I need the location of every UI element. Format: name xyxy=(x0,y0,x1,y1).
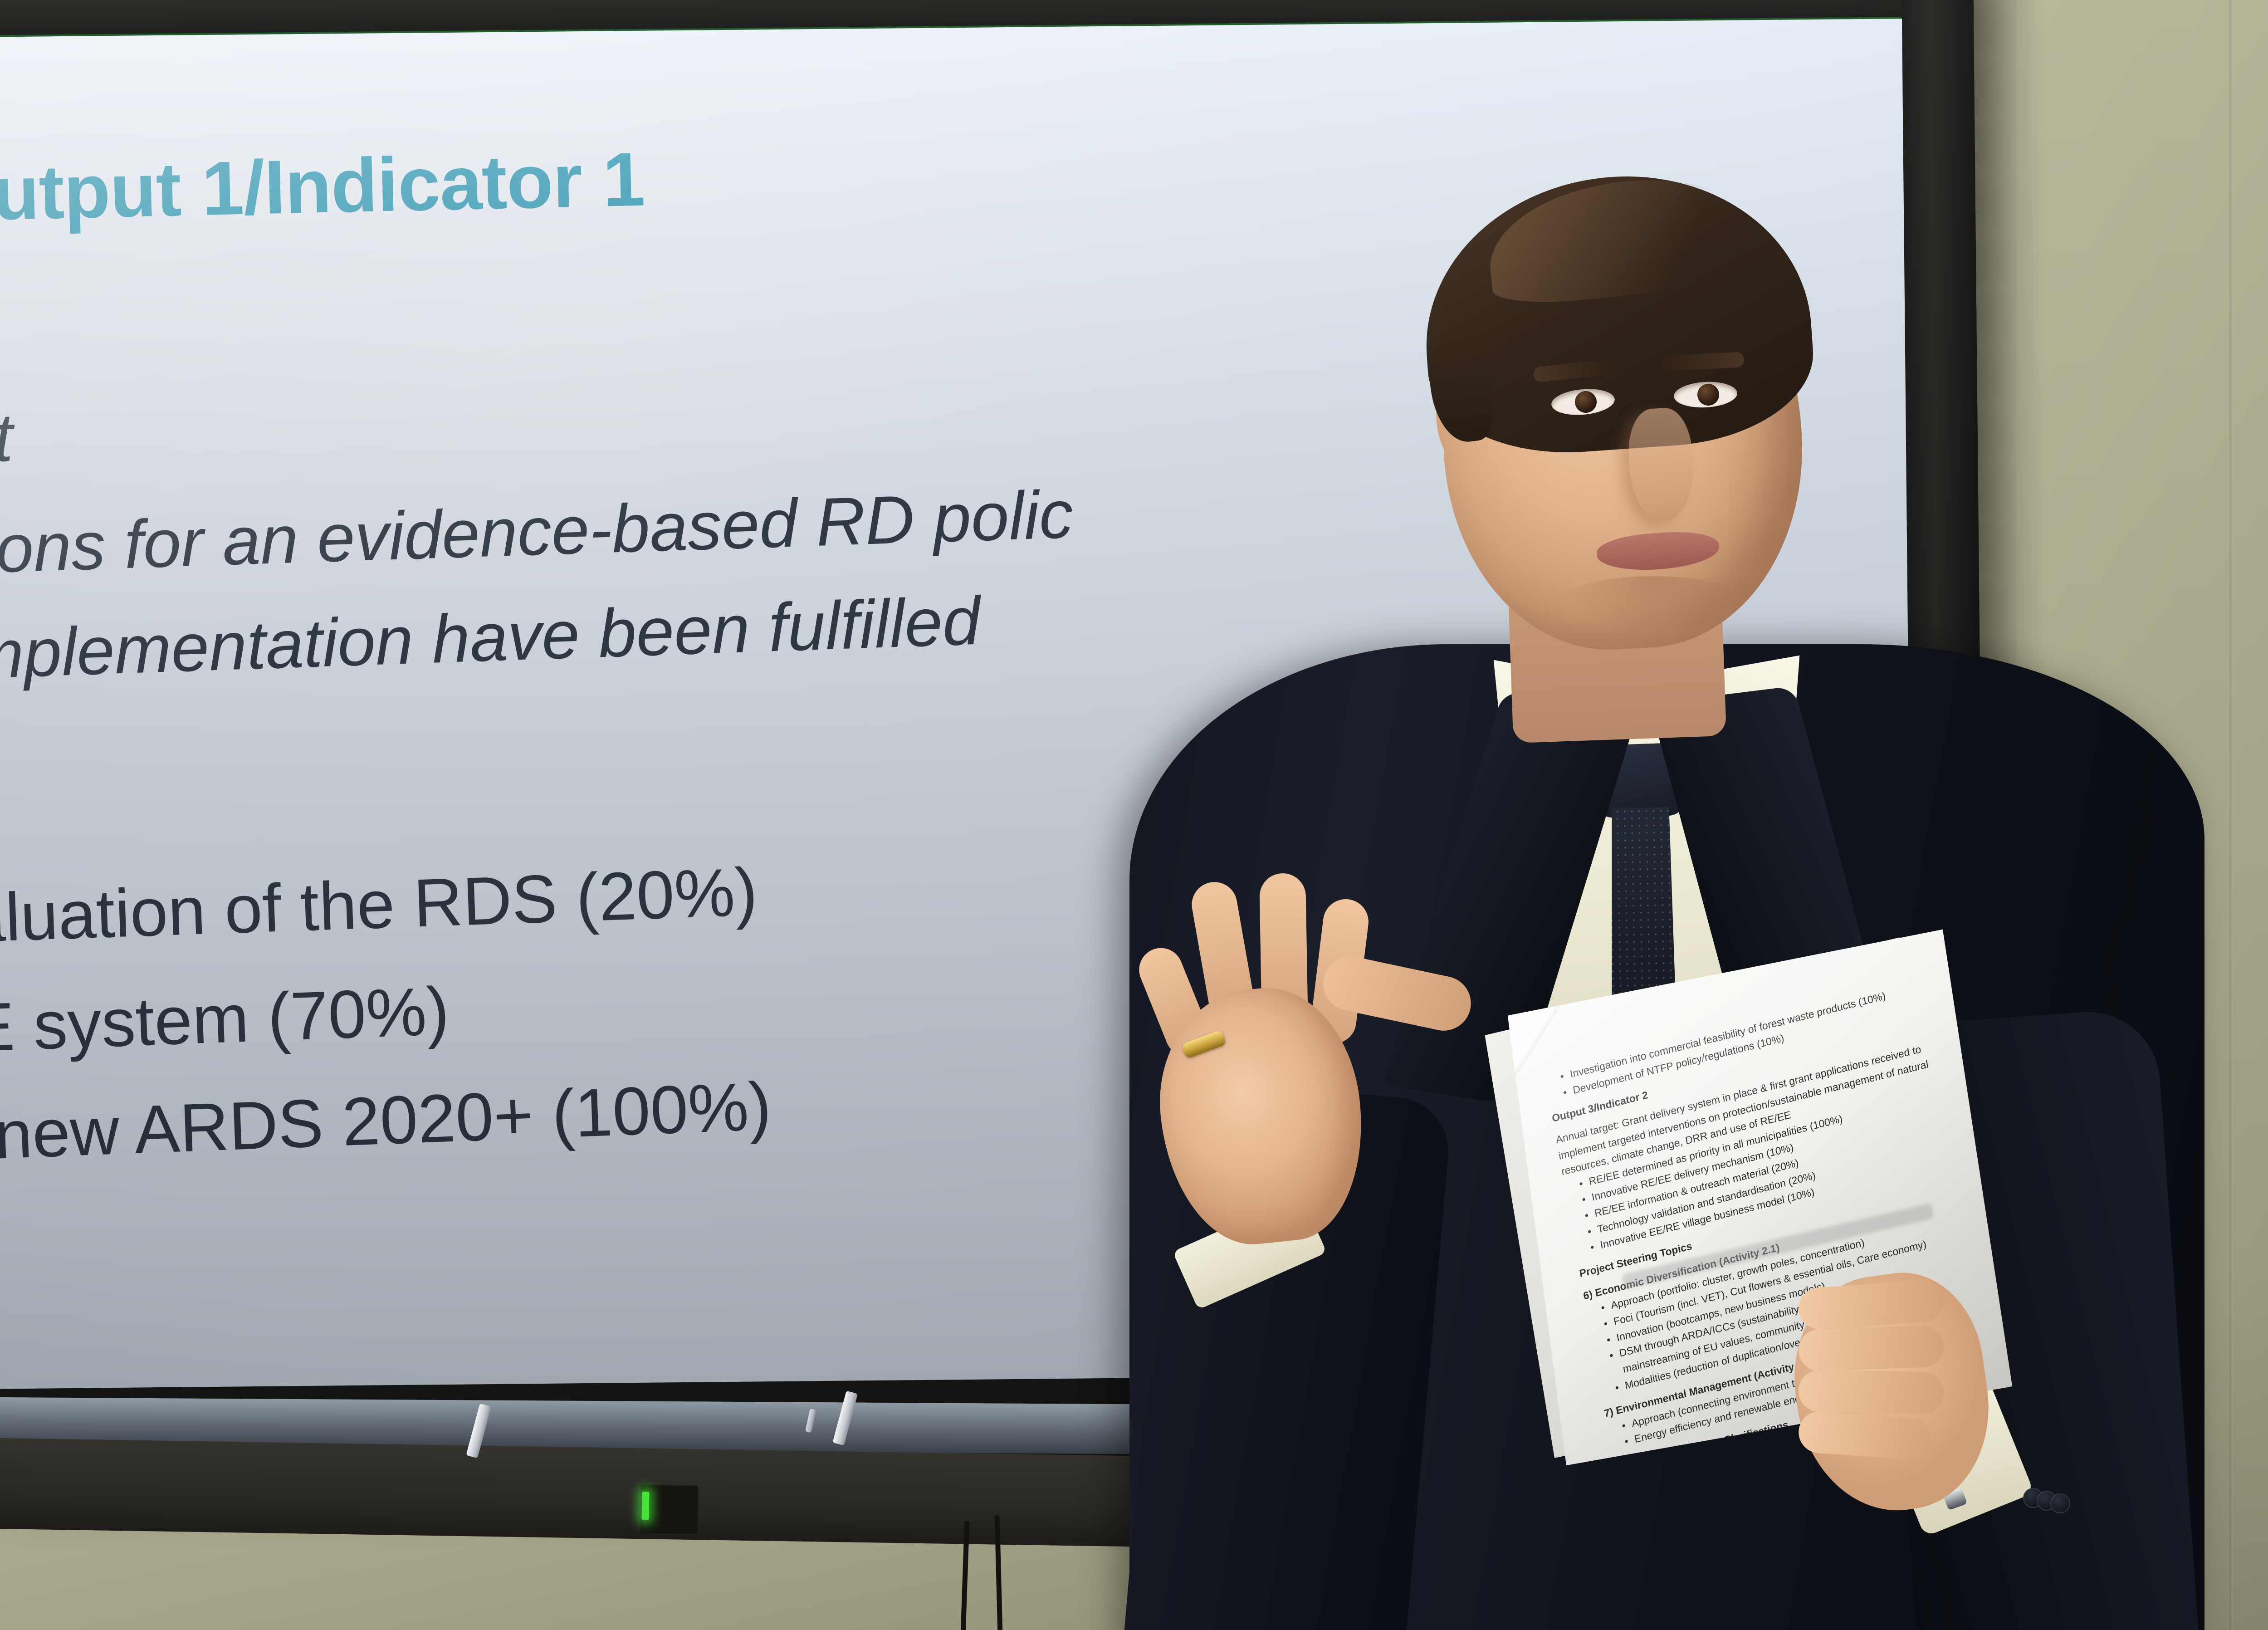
pupil-left xyxy=(1575,391,1597,413)
finger xyxy=(1798,1370,1944,1414)
finger xyxy=(1797,1279,1945,1331)
chin-shadow xyxy=(1556,576,1751,635)
finger xyxy=(1798,1325,1944,1371)
sleeve-buttons xyxy=(2023,1488,2077,1515)
fingers-right xyxy=(1799,1284,1948,1483)
presentation-scene: Output 1/Indicator 1 uet onditions for a… xyxy=(0,0,2268,1630)
finger xyxy=(1797,1410,1931,1461)
pupil-right xyxy=(1697,384,1719,406)
sleeve-button xyxy=(2050,1493,2070,1513)
